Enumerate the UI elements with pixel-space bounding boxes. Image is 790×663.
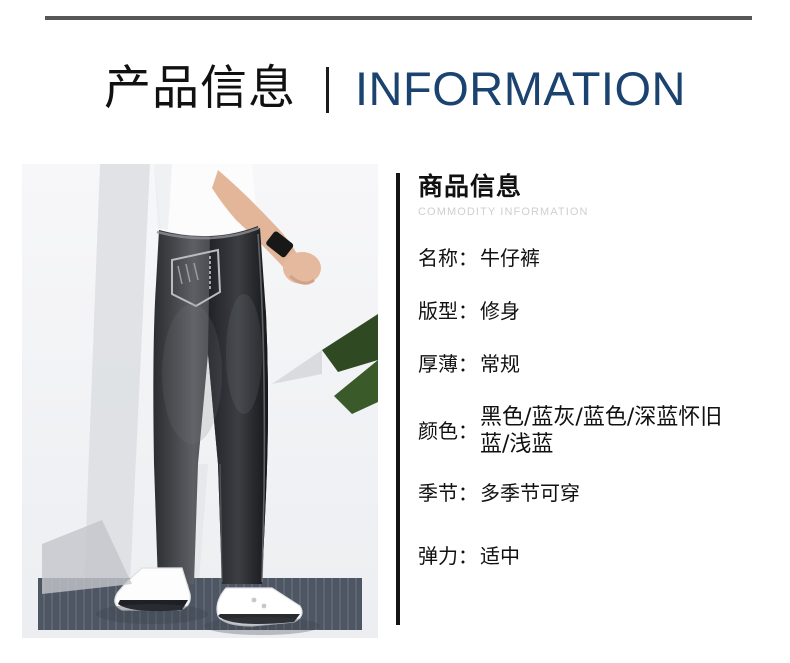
spec-row-color: 颜色： 黑色/蓝灰/蓝色/深蓝怀旧蓝/浅蓝 [418,405,776,459]
spec-label-color: 颜色： [418,419,478,444]
spec-list: 名称： 牛仔裤 版型： 修身 厚薄： 常规 颜色： 黑色/蓝灰/蓝色/深蓝怀旧蓝… [418,246,776,569]
panel-subtitle: COMMODITY INFORMATION [418,206,776,218]
product-information-page: 产品信息 INFORMATION [0,0,790,663]
page-header: 产品信息 INFORMATION [0,52,790,124]
panel-title: 商品信息 [418,173,776,201]
spec-label-fit: 版型： [418,299,478,324]
spec-label-thickness: 厚薄： [418,352,478,377]
commodity-information-panel: 商品信息 COMMODITY INFORMATION 名称： 牛仔裤 版型： 修… [396,173,776,625]
spec-row-fit: 版型： 修身 [418,299,776,324]
spec-value-name: 牛仔裤 [480,246,540,271]
panel-accent-bar [396,173,400,625]
spec-label-name: 名称： [418,246,478,271]
page-title-english: INFORMATION [355,65,686,112]
spec-value-fit: 修身 [480,299,520,324]
spec-row-thickness: 厚薄： 常规 [418,352,776,377]
spec-label-elasticity: 弹力： [418,544,478,569]
spec-row-name: 名称： 牛仔裤 [418,246,776,271]
spec-value-season: 多季节可穿 [480,481,580,506]
title-separator-icon [326,67,329,113]
spec-value-thickness: 常规 [480,352,520,377]
spec-label-season: 季节： [418,481,478,506]
spec-value-elasticity: 适中 [480,544,520,569]
page-title-chinese: 产品信息 [104,65,296,112]
spec-value-color: 黑色/蓝灰/蓝色/深蓝怀旧蓝/浅蓝 [480,405,742,459]
product-photo [22,164,378,638]
panel-body: 商品信息 COMMODITY INFORMATION 名称： 牛仔裤 版型： 修… [418,173,776,569]
top-divider-rule [45,16,752,20]
spec-row-season: 季节： 多季节可穿 [418,481,776,506]
product-photo-illustration [22,164,378,638]
spec-row-elasticity: 弹力： 适中 [418,544,776,569]
